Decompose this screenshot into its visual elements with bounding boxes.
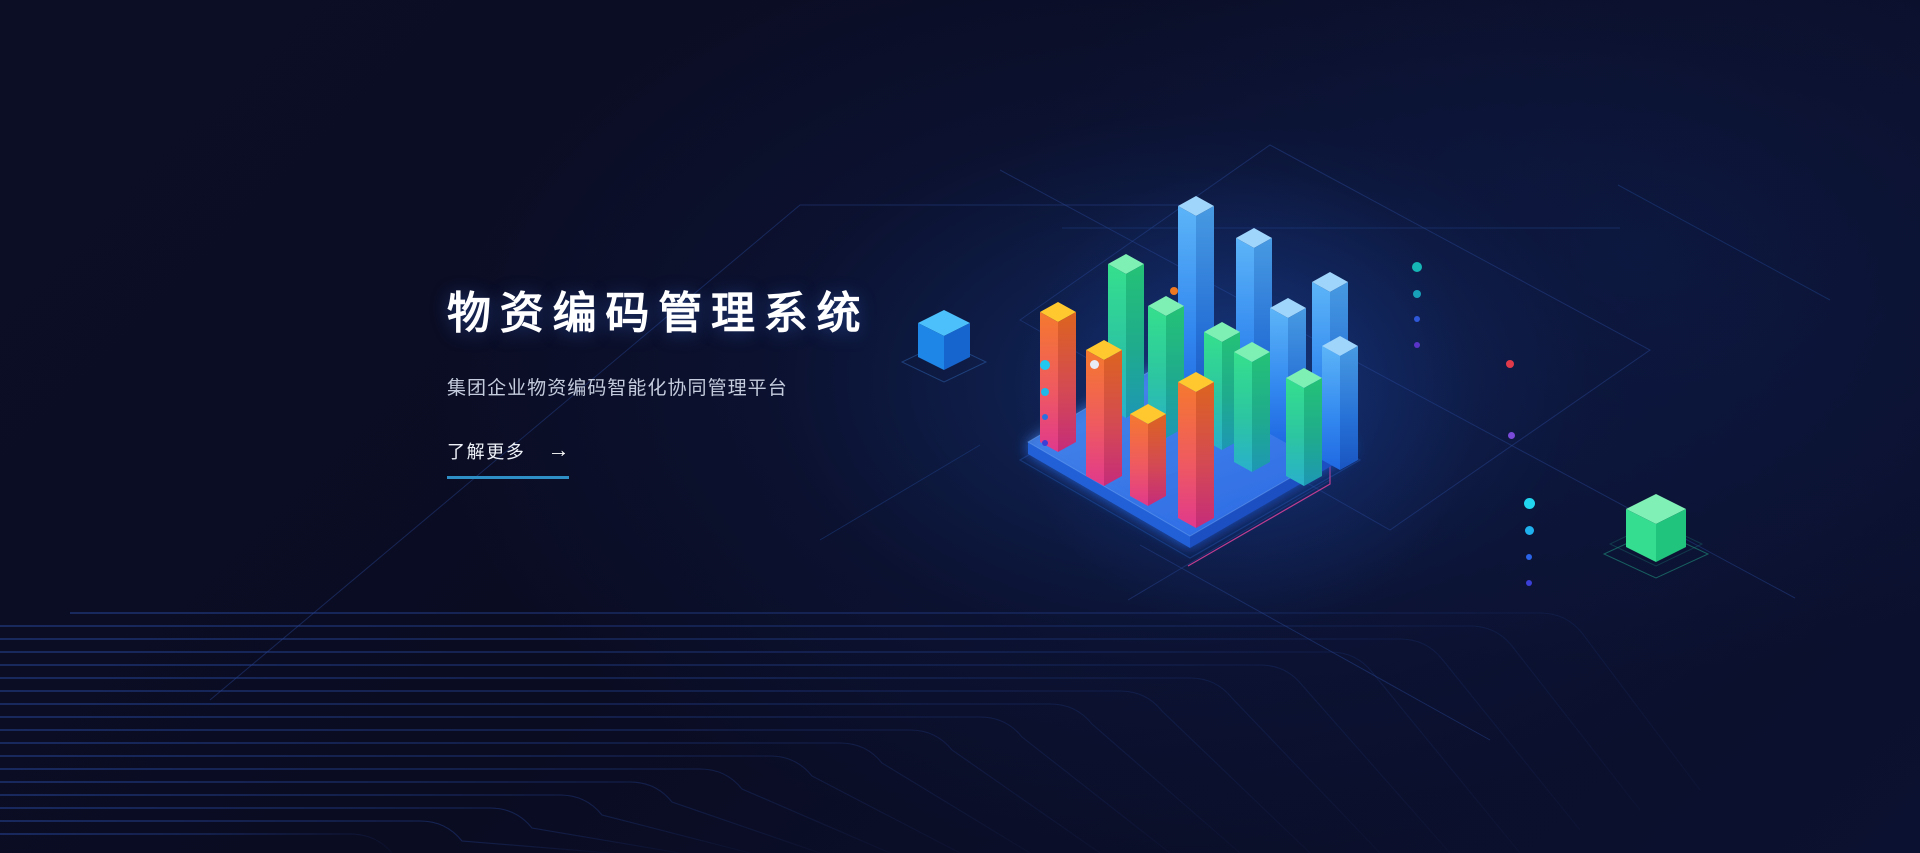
dot-column-top-right	[1412, 262, 1432, 362]
red-dot-icon	[1506, 360, 1514, 368]
isometric-bar-chart	[1000, 150, 1480, 650]
bar-b3	[1234, 342, 1270, 472]
hero-banner: 物资编码管理系统 集团企业物资编码智能化协同管理平台 了解更多 →	[0, 0, 1920, 853]
bar-a4	[1178, 372, 1214, 528]
orange-dot-icon	[1170, 287, 1178, 295]
green-cube-icon	[1598, 482, 1714, 594]
dot-teal	[1412, 262, 1422, 272]
learn-more-label: 了解更多	[447, 438, 525, 464]
dot-column-bottom-right	[1524, 498, 1544, 598]
dot-teal-2	[1413, 290, 1421, 298]
dot-violet	[1042, 440, 1048, 446]
blue-cube-icon	[898, 300, 990, 392]
dot-column-left	[1040, 360, 1060, 460]
dot-blue-3	[1526, 554, 1532, 560]
learn-more-button[interactable]: 了解更多 →	[447, 438, 569, 479]
dot-cyan	[1040, 360, 1050, 370]
dot-blue	[1042, 414, 1048, 420]
white-dot-icon	[1090, 360, 1099, 369]
dot-blue-2	[1414, 316, 1420, 322]
violet-dot-icon	[1508, 432, 1515, 439]
dot-cyan-2	[1041, 388, 1049, 396]
dot-violet-2	[1526, 580, 1532, 586]
bar-c4	[1322, 336, 1358, 470]
arrow-right-icon: →	[547, 439, 569, 461]
dot-cyan-4	[1525, 526, 1534, 535]
bar-b4	[1286, 368, 1322, 486]
dot-cyan-3	[1524, 498, 1535, 509]
bar-a3	[1130, 404, 1166, 506]
dot-purple	[1414, 342, 1420, 348]
